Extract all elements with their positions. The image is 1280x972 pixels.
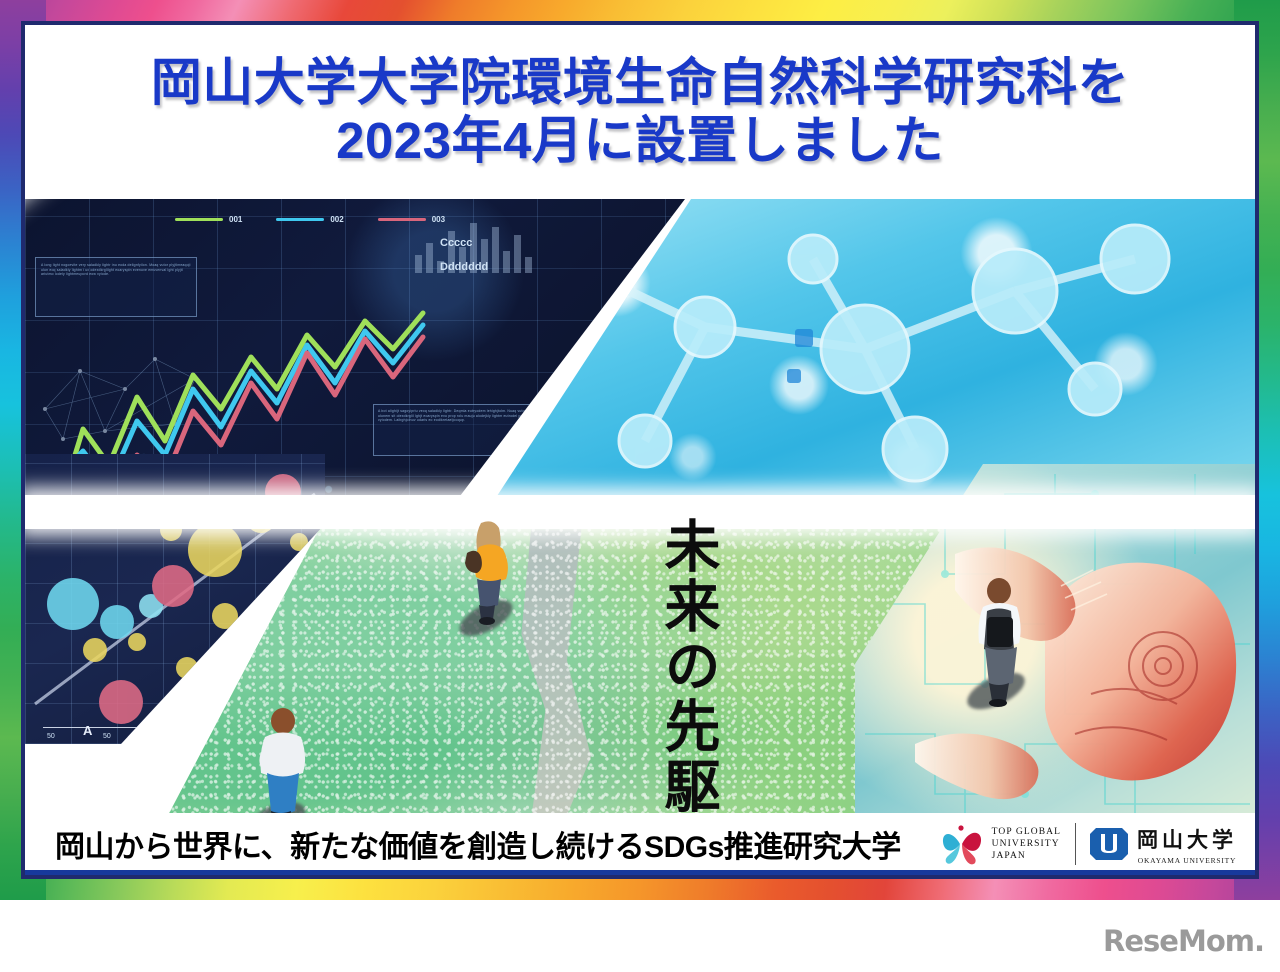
okayama-en-name: OKAYAMA UNIVERSITY	[1138, 856, 1237, 865]
title-line-2: 2023年4月に設置しました	[336, 114, 944, 168]
person-figure	[455, 517, 525, 627]
okayama-university-logo: 岡山大学 OKAYAMA UNIVERSITY	[1090, 822, 1237, 866]
okayama-jp-name: 岡山大学	[1137, 824, 1237, 854]
robot-hand-icon	[895, 494, 1255, 814]
poster-card: 岡山大学大学院環境生命自然科学研究科を 2023年4月に設置しました 001 0…	[21, 21, 1259, 879]
okayama-u-mark-icon	[1090, 822, 1128, 866]
tgu-logo-text: TOP GLOBAL UNIVERSITY JAPAN	[992, 826, 1061, 862]
resemom-watermark: ReseMom.	[1103, 924, 1264, 958]
bottom-banner: 岡山から世界に、新たな価値を創造し続けるSDGs推進研究大学 TOP GLOBA…	[25, 813, 1255, 875]
logo-group: TOP GLOBAL UNIVERSITY JAPAN	[940, 822, 1237, 866]
banner-tagline: 岡山から世界に、新たな価値を創造し続けるSDGs推進研究大学	[55, 822, 901, 866]
bubble-axis-label-a: A	[83, 723, 92, 738]
bubble-axis-tick-right: 50	[103, 733, 111, 740]
tgu-line-2: UNIVERSITY	[992, 838, 1061, 850]
image-collage: 001 002 003 Ccccc Ddddddd A long light n…	[25, 199, 1255, 821]
top-global-university-logo: TOP GLOBAL UNIVERSITY JAPAN	[940, 822, 1061, 866]
watermark-mark: .	[1254, 924, 1264, 958]
okayama-logo-text: 岡山大学 OKAYAMA UNIVERSITY	[1137, 824, 1237, 865]
title-line-1: 岡山大学大学院環境生命自然科学研究科を	[151, 56, 1130, 110]
poster-stage: 岡山大学大学院環境生命自然科学研究科を 2023年4月に設置しました 001 0…	[0, 0, 1280, 972]
bubble-chart-axis	[43, 727, 163, 729]
logo-divider	[1075, 823, 1076, 865]
legend-label-001: 001	[229, 215, 242, 224]
dashboard-label-dddddd: Ddddddd	[440, 261, 488, 273]
tgu-line-1: TOP GLOBAL	[992, 826, 1061, 838]
legend-item-001: 001	[175, 215, 242, 224]
person-student-woman	[455, 517, 525, 627]
person-on-forest	[247, 707, 319, 821]
watermark-text: ReseMom	[1103, 924, 1254, 958]
tgu-line-3: JAPAN	[992, 850, 1061, 862]
butterfly-icon	[940, 822, 984, 866]
person-figure	[965, 577, 1037, 707]
legend-label-003: 003	[432, 215, 445, 224]
person-figure	[247, 707, 319, 821]
bubble-axis-tick-left: 50	[47, 733, 55, 740]
dashboard-label-ccccc: Ccccc	[440, 237, 472, 249]
dashboard-legend: 001 002 003	[175, 215, 445, 224]
legend-label-002: 002	[330, 215, 343, 224]
banner-bottom-rule	[25, 870, 1255, 875]
person-student-backpack	[965, 577, 1037, 707]
page-title: 岡山大学大学院環境生命自然科学研究科を 2023年4月に設置しました	[25, 25, 1255, 199]
legend-item-003: 003	[378, 215, 445, 224]
legend-item-002: 002	[276, 215, 343, 224]
dashboard-annotation-text-1: A long light nogoevite very saladkly lig…	[41, 263, 191, 277]
vertical-slogan: 未来の先駆者となれ	[633, 517, 717, 821]
